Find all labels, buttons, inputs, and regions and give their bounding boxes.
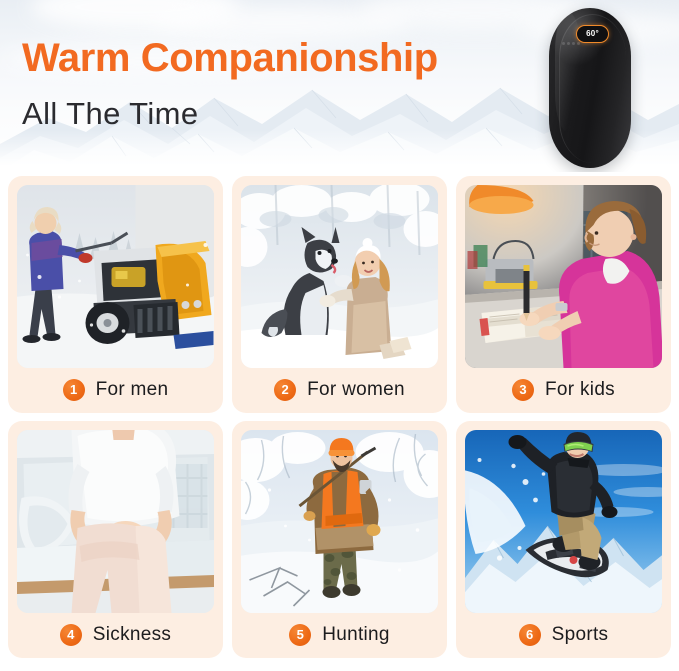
photo-snowboarder [465, 430, 662, 613]
card-label-row: 2 For women [241, 368, 438, 413]
use-case-grid: 1 For men [8, 176, 671, 658]
photo-knee-pain-on-sofa [17, 430, 214, 613]
card-label-text: For kids [545, 379, 615, 401]
card-label-row: 3 For kids [465, 368, 662, 413]
page-subtitle: All The Time [22, 98, 199, 129]
use-case-card-hunting[interactable]: 5 Hunting [232, 421, 447, 658]
device-temperature-value: 60° [586, 30, 599, 38]
card-label-row: 5 Hunting [241, 613, 438, 658]
product-image: 60° [549, 8, 631, 168]
page-title: Warm Companionship [22, 38, 438, 78]
use-case-card-sports[interactable]: 6 Sports [456, 421, 671, 658]
card-label-row: 4 Sickness [17, 613, 214, 658]
photo-woman-with-husky [241, 185, 438, 368]
card-number-badge: 3 [512, 379, 534, 401]
device-body: 60° [549, 8, 631, 168]
use-case-card-sickness[interactable]: 4 Sickness [8, 421, 223, 658]
card-label-text: For men [96, 379, 169, 401]
card-number-badge: 5 [289, 624, 311, 646]
photo-man-snowblower [17, 185, 214, 368]
card-number-badge: 2 [274, 379, 296, 401]
photo-child-studying [465, 185, 662, 368]
card-label-row: 1 For men [17, 368, 214, 413]
device-temperature-display: 60° [576, 25, 609, 43]
card-label-text: Sickness [93, 624, 171, 646]
card-number-badge: 4 [60, 624, 82, 646]
use-case-card-for-kids[interactable]: 3 For kids [456, 176, 671, 413]
card-number-badge: 1 [63, 379, 85, 401]
card-label-text: For women [307, 379, 405, 401]
hero-banner: Warm Companionship All The Time 60° [0, 0, 679, 172]
use-case-card-for-men[interactable]: 1 For men [8, 176, 223, 413]
card-label-text: Sports [552, 624, 609, 646]
card-number-badge: 6 [519, 624, 541, 646]
use-case-card-for-women[interactable]: 2 For women [232, 176, 447, 413]
photo-hunter-in-snow [241, 430, 438, 613]
card-label-row: 6 Sports [465, 613, 662, 658]
device-indicator-dots [562, 42, 582, 46]
card-label-text: Hunting [322, 624, 390, 646]
